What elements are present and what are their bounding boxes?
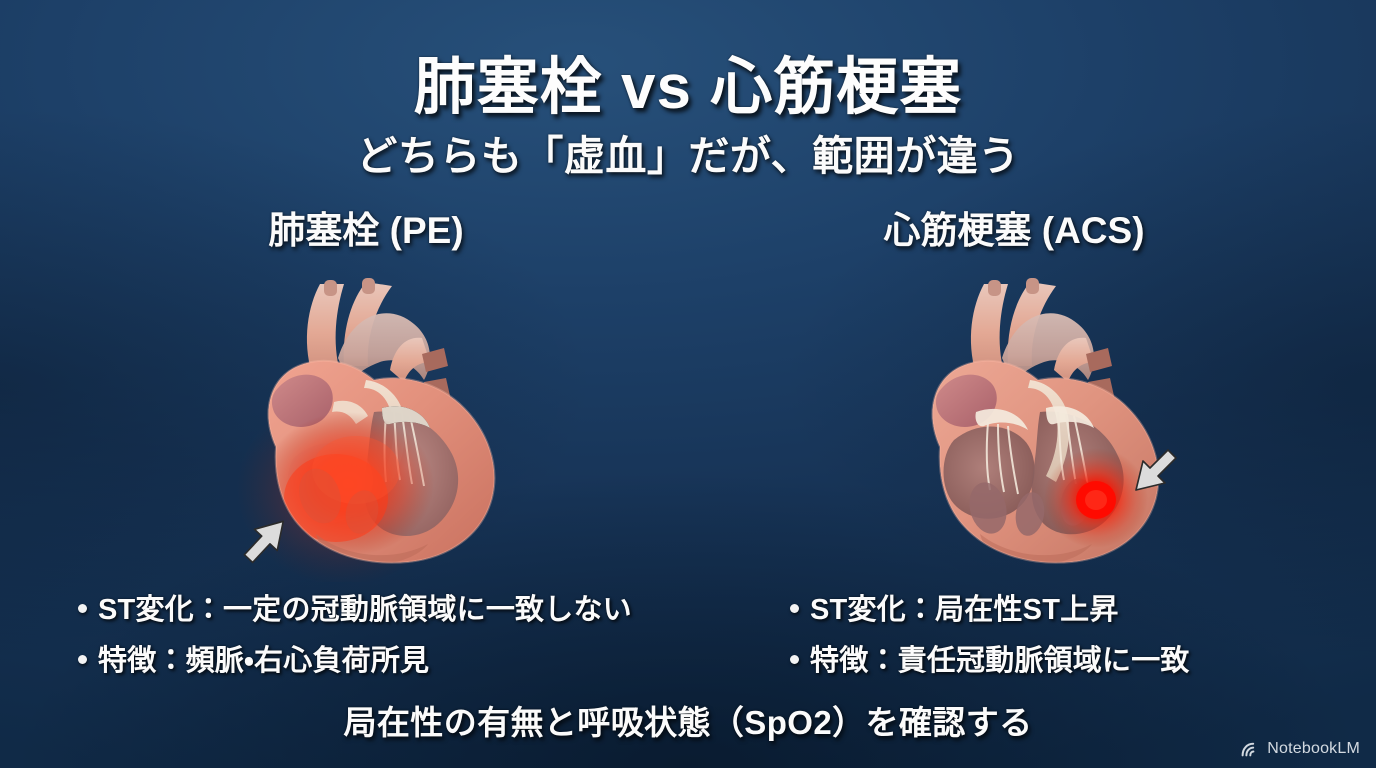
heart-cross-section-focal-infarct-svg xyxy=(880,262,1220,582)
heart-body xyxy=(932,361,1158,565)
column-header-pe: 肺塞栓 (PE) xyxy=(124,200,608,254)
bullet-dot-icon xyxy=(790,604,799,613)
list-item: ST変化：局在性ST上昇 xyxy=(790,586,1190,628)
column-header-acs: 心筋梗塞 (ACS) xyxy=(772,200,1256,254)
bullet-text-acs-st: ST変化：局在性ST上昇 xyxy=(810,586,1119,628)
notebooklm-watermark-label: NotebookLM xyxy=(1267,740,1360,758)
list-item: 特徴：責任冠動脈領域に一致 xyxy=(790,637,1190,679)
slide-subtitle: どちらも「虚血」だが、範囲が違う xyxy=(0,122,1376,182)
bullet-text-acs-feature: 特徴：責任冠動脈領域に一致 xyxy=(810,637,1190,679)
heart-cross-section-diffuse-ischemia-svg xyxy=(216,262,556,582)
slide-title: 肺塞栓 vs 心筋梗塞 xyxy=(0,36,1376,126)
slide-root: 肺塞栓 vs 心筋梗塞 どちらも「虚血」だが、範囲が違う 肺塞栓 (PE) 心筋… xyxy=(0,0,1376,768)
notebooklm-logo-icon xyxy=(1241,742,1260,757)
bullet-dot-icon xyxy=(790,655,799,664)
bullet-list-pe: ST変化：一定の冠動脈領域に一致しない 特徴：頻脈・右心負荷所見 xyxy=(78,586,632,688)
list-item: 特徴：頻脈・右心負荷所見 xyxy=(78,637,632,679)
list-item: ST変化：一定の冠動脈領域に一致しない xyxy=(78,586,632,628)
figure-pe-heart xyxy=(216,262,556,582)
bullet-list-acs: ST変化：局在性ST上昇 特徴：責任冠動脈領域に一致 xyxy=(790,586,1190,688)
bullet-text-pe-st: ST変化：一定の冠動脈領域に一致しない xyxy=(98,586,632,628)
notebooklm-watermark: NotebookLM xyxy=(1241,740,1360,758)
bullet-dot-icon xyxy=(78,655,87,664)
bullet-dot-icon xyxy=(78,604,87,613)
figure-acs-heart xyxy=(880,262,1220,582)
bullet-text-pe-feature: 特徴：頻脈・右心負荷所見 xyxy=(98,637,429,679)
slide-footer-takeaway: 局在性の有無と呼吸状態（SpO2）を確認する xyxy=(0,696,1376,744)
